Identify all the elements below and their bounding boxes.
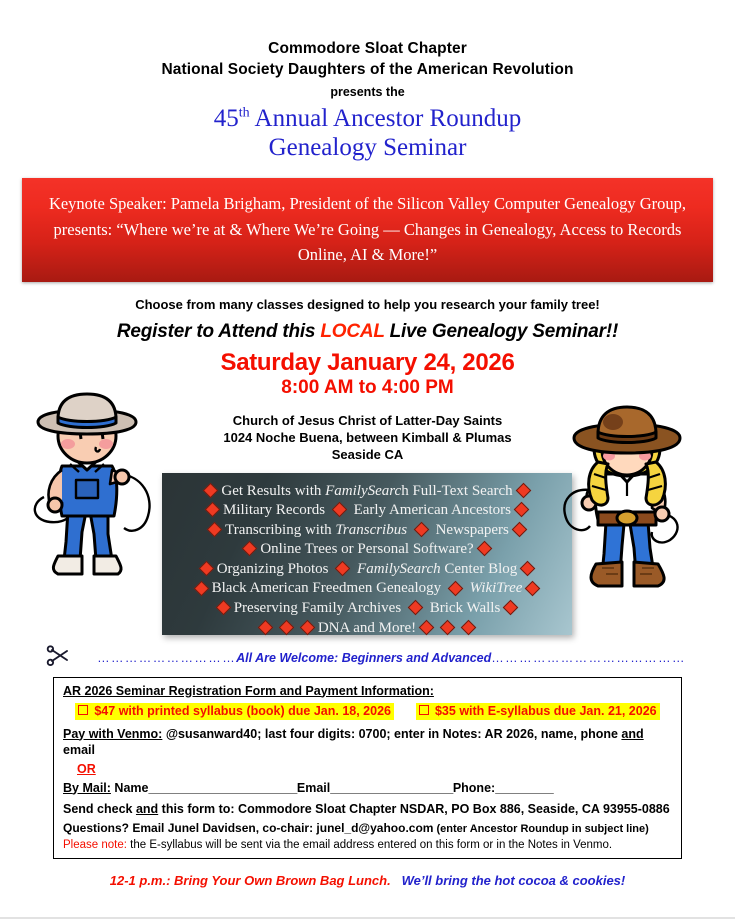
diamond-bullet-icon (335, 561, 351, 577)
diamond-bullet-icon (503, 600, 519, 616)
email-input-blank[interactable]: ___________________ (330, 781, 453, 795)
or-separator: OR (77, 762, 672, 776)
by-mail-label: By Mail: (63, 781, 111, 795)
questions-text[interactable]: Questions? Email Junel Davidsen, co-chai… (63, 821, 433, 835)
diamond-bullet-icon (205, 502, 221, 518)
please-note-label: Please note: (63, 839, 127, 851)
venmo-and: and (621, 727, 643, 741)
topic-text: Transcribing with (225, 522, 335, 538)
diamond-bullet-icon (300, 619, 316, 635)
diamond-bullet-icon (476, 541, 492, 557)
cut-line: …………………………All Are Welcome: Beginners and… (0, 645, 735, 671)
flyer-header: Commodore Sloat Chapter National Society… (0, 0, 735, 162)
price-options: $47 with printed syllabus (book) due Jan… (63, 703, 672, 720)
please-note-text: the E-syllabus will be sent via the emai… (127, 839, 612, 851)
topic-text: h Full-Text Search (401, 483, 512, 499)
topic-text: Military Records (223, 502, 329, 518)
diamond-bullet-icon (414, 521, 430, 537)
diamond-bullet-icon (461, 619, 477, 635)
diamond-bullet-icon (258, 619, 274, 635)
diamond-bullet-icon (520, 561, 536, 577)
event-time: 8:00 AM to 4:00 PM (0, 377, 735, 398)
society-name: National Society Daughters of the Americ… (0, 59, 735, 80)
topic-text: WikiTree (470, 580, 523, 596)
title-line-1: 45th Annual Ancestor Roundup (0, 104, 735, 133)
questions-subject-note: (enter Ancestor Roundup in subject line) (433, 823, 648, 835)
price-esyllabus-label: $35 with E-syllabus due Jan. 21, 2026 (435, 704, 657, 718)
venue-line-1: Church of Jesus Christ of Latter-Day Sai… (0, 412, 735, 429)
venue-line-2: 1024 Noche Buena, between Kimball & Plum… (0, 429, 735, 446)
title-line-2: Genealogy Seminar (0, 133, 735, 162)
venmo-label: Pay with Venmo: (63, 727, 162, 741)
title-line-1-rest: Annual Ancestor Roundup (250, 105, 522, 132)
diamond-bullet-icon (279, 619, 295, 635)
keynote-banner: Keynote Speaker: Pamela Brigham, Preside… (22, 178, 713, 282)
topic-text: FamilySearch (357, 561, 441, 577)
diamond-bullet-icon (332, 502, 348, 518)
cut-line-trail-dots: …………………………………… (491, 651, 686, 665)
send-check-b: this form to: Commodore Sloat Chapter NS… (158, 802, 669, 816)
topic-row: Black American Freedmen Genealogy WikiTr… (162, 579, 572, 599)
topic-text: Preserving Family Archives (234, 600, 405, 616)
form-title: AR 2026 Seminar Registration Form and Pa… (63, 684, 672, 698)
topic-row: Military Records Early American Ancestor… (162, 501, 572, 521)
lunch-byo-text: 12-1 p.m.: Bring Your Own Brown Bag Lunc… (110, 873, 391, 888)
topic-row: DNA and More! (162, 619, 572, 639)
venmo-details-a: @susanward40; last four digits: 0700; en… (162, 727, 621, 741)
checkbox-printed-syllabus[interactable] (78, 705, 88, 715)
venue-block: Church of Jesus Christ of Latter-Day Sai… (0, 412, 735, 463)
presents-label: presents the (0, 85, 735, 99)
send-check-line: Send check and this form to: Commodore S… (63, 801, 672, 817)
event-date: Saturday January 24, 2026 (0, 350, 735, 376)
register-local-emphasis: LOCAL (320, 321, 384, 342)
venmo-details-b: email (63, 743, 95, 757)
topic-text: Brick Walls (426, 600, 500, 616)
phone-field-label: Phone: (453, 781, 495, 795)
topic-text: Black American Freedmen Genealogy (212, 580, 445, 596)
topic-text: Transcribus (335, 522, 407, 538)
diamond-bullet-icon (198, 561, 214, 577)
topic-text: Organizing Photos (217, 561, 333, 577)
title-number: 45 (214, 105, 239, 132)
diamond-bullet-icon (515, 482, 531, 498)
topics-section: Get Results with FamilySearch Full-Text … (0, 473, 735, 639)
topic-text: Online Trees or Personal Software? (260, 541, 473, 557)
diamond-bullet-icon (419, 619, 435, 635)
cut-line-text: …………………………All Are Welcome: Beginners and… (82, 651, 701, 665)
topic-row: Online Trees or Personal Software? (162, 540, 572, 560)
topic-text (407, 522, 411, 538)
register-post: Live Genealogy Seminar!! (384, 321, 618, 342)
diamond-bullet-icon (203, 482, 219, 498)
questions-line: Questions? Email Junel Davidsen, co-chai… (63, 821, 672, 835)
chapter-name: Commodore Sloat Chapter (0, 38, 735, 59)
diamond-bullet-icon (512, 521, 528, 537)
diamond-bullet-icon (440, 619, 456, 635)
diamond-bullet-icon (514, 502, 530, 518)
welcome-text: All Are Welcome: Beginners and Advanced (236, 651, 491, 665)
checkbox-esyllabus[interactable] (419, 705, 429, 715)
class-topics-box: Get Results with FamilySearch Full-Text … (162, 473, 572, 635)
name-input-blank[interactable]: _______________________ (148, 781, 296, 795)
please-note-line: Please note: the E-syllabus will be sent… (63, 839, 672, 851)
cut-line-lead-dots: ………………………… (97, 651, 236, 665)
register-headline: Register to Attend this LOCAL Live Genea… (0, 321, 735, 343)
topic-text: Early American Ancestors (350, 502, 511, 518)
diamond-bullet-icon (215, 600, 231, 616)
page-title: 45th Annual Ancestor Roundup Genealogy S… (0, 104, 735, 162)
title-ordinal: th (239, 106, 250, 121)
diamond-bullet-icon (408, 600, 424, 616)
price-printed-label: $47 with printed syllabus (book) due Jan… (94, 704, 391, 718)
diamond-bullet-icon (193, 580, 209, 596)
topic-row: Organizing Photos FamilySearch Center Bl… (162, 560, 572, 580)
name-field-label: Name (111, 781, 149, 795)
email-field-label: Email (297, 781, 330, 795)
topic-row: Preserving Family Archives Brick Walls (162, 599, 572, 619)
by-mail-line: By Mail: Name_______________________Emai… (63, 781, 672, 795)
phone-input-blank[interactable]: _________ (495, 781, 553, 795)
registration-form-box[interactable]: AR 2026 Seminar Registration Form and Pa… (53, 677, 682, 859)
choose-classes-text: Choose from many classes designed to hel… (0, 297, 735, 312)
send-check-and: and (136, 802, 158, 816)
scissors-icon (46, 645, 72, 672)
diamond-bullet-icon (242, 541, 258, 557)
topic-text: Center Blog (441, 561, 518, 577)
lunch-note: 12-1 p.m.: Bring Your Own Brown Bag Lunc… (0, 873, 735, 888)
topic-row: Transcribing with Transcribus Newspapers (162, 521, 572, 541)
lunch-cocoa-text: We’ll bring the hot cocoa & cookies! (402, 873, 626, 888)
diamond-bullet-icon (525, 580, 541, 596)
diamond-bullet-icon (448, 580, 464, 596)
topic-text: Newspapers (432, 522, 509, 538)
register-pre: Register to Attend this (117, 321, 321, 342)
diamond-bullet-icon (207, 521, 223, 537)
price-option-printed[interactable]: $47 with printed syllabus (book) due Jan… (75, 703, 394, 720)
price-option-esyllabus[interactable]: $35 with E-syllabus due Jan. 21, 2026 (416, 703, 660, 720)
topic-text: Get Results with (221, 483, 325, 499)
flyer-page: Commodore Sloat Chapter National Society… (0, 0, 735, 919)
topic-text: DNA and More! (318, 620, 416, 636)
topic-row: Get Results with FamilySearch Full-Text … (162, 482, 572, 502)
venue-line-3: Seaside CA (0, 446, 735, 463)
topic-text: FamilySearc (325, 483, 401, 499)
send-check-a: Send check (63, 802, 136, 816)
venmo-line: Pay with Venmo: @susanward40; last four … (63, 726, 672, 758)
